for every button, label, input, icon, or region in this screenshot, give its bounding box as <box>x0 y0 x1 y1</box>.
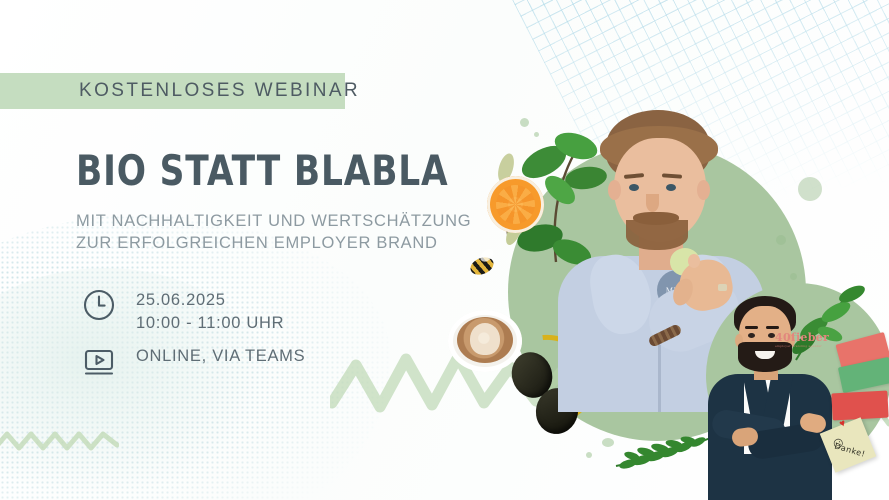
platform-text: ONLINE, VIA TEAMS <box>136 344 305 368</box>
platform-row: ONLINE, VIA TEAMS <box>82 344 305 378</box>
paint-speck <box>790 273 797 280</box>
subtitle: MIT NACHHALTIGKEIT UND WERTSCHÄTZUNG ZUR… <box>76 210 471 255</box>
subtitle-line-2: ZUR ERFOLGREICHEN EMPLOYER BRAND <box>76 232 471 254</box>
clock-icon <box>82 288 116 322</box>
webinar-promo-poster: KOSTENLOSES WEBINAR BIO STATT BLABLA MIT… <box>0 0 889 500</box>
paint-splatter <box>534 132 539 137</box>
small-green-zigzag <box>0 428 119 454</box>
banner-label: KOSTENLOSES WEBINAR <box>79 80 360 102</box>
right-green-zigzag <box>795 398 889 438</box>
page-title: BIO STATT BLABLA <box>76 150 449 192</box>
paint-splatter <box>586 452 592 458</box>
webinar-date: 25.06.2025 <box>136 289 284 312</box>
date-time-text: 25.06.2025 10:00 - 11:00 UHR <box>136 288 284 336</box>
free-webinar-banner: KOSTENLOSES WEBINAR <box>0 73 345 109</box>
paint-speck <box>776 235 786 245</box>
date-time-row: 25.06.2025 10:00 - 11:00 UHR <box>82 288 284 336</box>
video-monitor-icon <box>82 344 116 378</box>
paint-splatter <box>520 118 529 127</box>
paint-splatter <box>602 438 614 447</box>
webinar-time: 10:00 - 11:00 UHR <box>136 312 284 335</box>
green-zigzag-brushstroke <box>330 345 565 420</box>
paint-speck <box>762 329 775 340</box>
subtitle-line-1: MIT NACHHALTIGKEIT UND WERTSCHÄTZUNG <box>76 210 471 232</box>
